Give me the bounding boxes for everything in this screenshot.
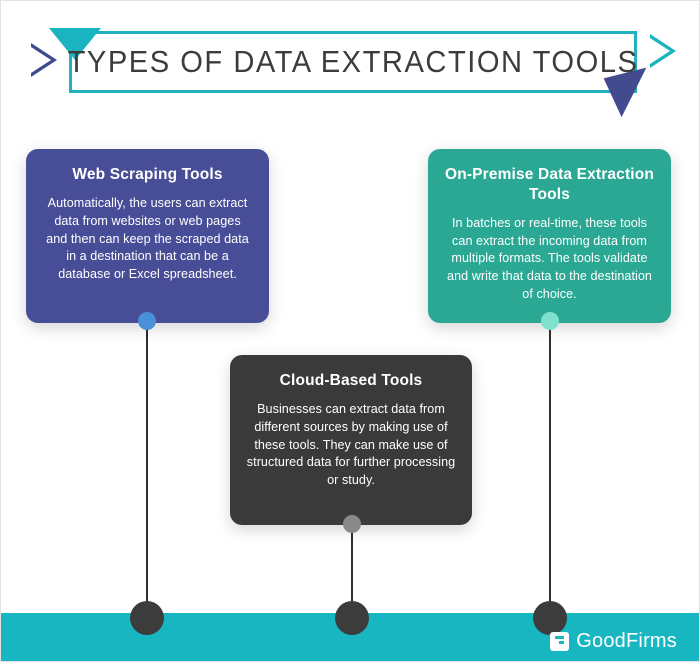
- brand-logo[interactable]: GoodFirms: [550, 630, 677, 653]
- card-body-web-scraping: Automatically, the users can extract dat…: [42, 195, 253, 284]
- card-title-web-scraping: Web Scraping Tools: [42, 165, 253, 185]
- card-body-on-premise: In batches or real-time, these tools can…: [444, 215, 655, 304]
- connector-line-web-scraping: [146, 323, 148, 619]
- card-node-cloud-based: [343, 515, 361, 533]
- card-web-scraping-tools[interactable]: Web Scraping Tools Automatically, the us…: [26, 149, 269, 323]
- infographic-canvas: Types of Data Extraction Tools Web Scrap…: [0, 0, 700, 662]
- card-node-on-premise: [541, 312, 559, 330]
- goodfirms-logo-icon: [550, 632, 569, 651]
- card-title-on-premise: On-Premise Data Extraction Tools: [444, 165, 655, 205]
- card-node-web-scraping: [138, 312, 156, 330]
- header-zone: Types of Data Extraction Tools: [1, 1, 700, 131]
- card-title-cloud-based: Cloud-Based Tools: [246, 371, 456, 391]
- page-title: Types of Data Extraction Tools: [86, 31, 620, 93]
- connector-line-on-premise: [549, 323, 551, 619]
- base-node-web-scraping: [130, 601, 164, 635]
- base-node-cloud-based: [335, 601, 369, 635]
- card-on-premise-data-extraction-tools[interactable]: On-Premise Data Extraction Tools In batc…: [428, 149, 671, 323]
- card-cloud-based-tools[interactable]: Cloud-Based Tools Businesses can extract…: [230, 355, 472, 525]
- triangle-teal-outline-right-icon: [650, 34, 676, 68]
- card-body-cloud-based: Businesses can extract data from differe…: [246, 401, 456, 490]
- brand-name: GoodFirms: [576, 630, 677, 653]
